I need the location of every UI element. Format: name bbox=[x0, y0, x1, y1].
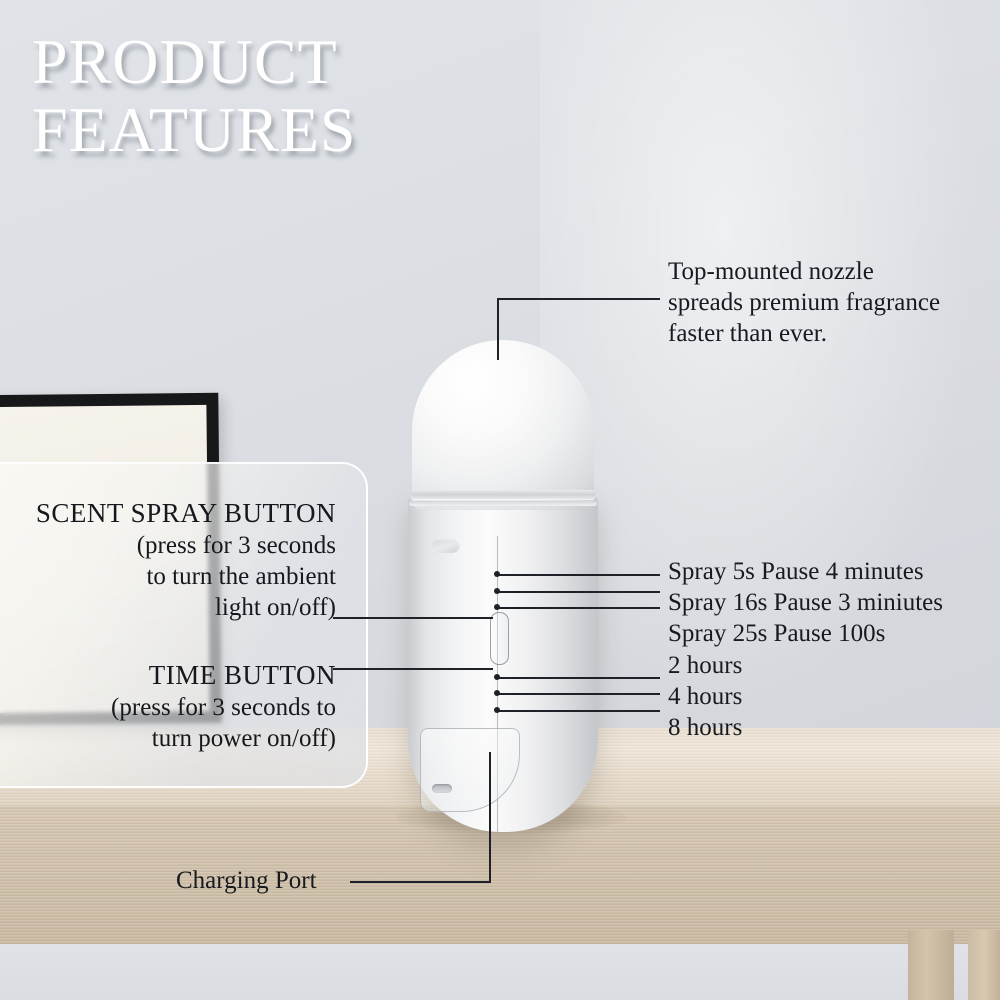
leader-line-spray-2 bbox=[497, 591, 660, 593]
aroma-diffuser-device bbox=[408, 340, 598, 832]
device-button-panel bbox=[490, 612, 509, 665]
annotation-spray-mode-3: Spray 25s Pause 100s bbox=[668, 618, 943, 649]
annotation-charging-port: Charging Port bbox=[176, 866, 317, 896]
annotation-spray-mode-1: Spray 5s Pause 4 minutes bbox=[668, 556, 943, 587]
floor-background bbox=[0, 944, 1000, 1000]
callout-scent-spray-sub-3: light on/off) bbox=[8, 592, 336, 623]
annotation-timer-modes: 2 hours 4 hours 8 hours bbox=[668, 650, 742, 743]
leader-line-spray-3 bbox=[497, 607, 660, 609]
device-dome-cap bbox=[412, 340, 594, 510]
callout-time-button-sub-1: (press for 3 seconds to bbox=[8, 692, 336, 723]
page-title-line-1: PRODUCT bbox=[32, 28, 357, 96]
annotation-timer-mode-2: 4 hours bbox=[668, 681, 742, 712]
page-title: PRODUCT FEATURES bbox=[32, 28, 357, 164]
infographic-canvas: PRODUCT FEATURES Top-mounted nozzle spre… bbox=[0, 0, 1000, 1000]
annotation-nozzle-line-1: Top-mounted nozzle bbox=[668, 256, 940, 287]
annotation-spray-modes: Spray 5s Pause 4 minutes Spray 16s Pause… bbox=[668, 556, 943, 649]
device-indicator-light bbox=[430, 538, 460, 553]
leader-line-charging-port-vertical bbox=[489, 752, 491, 883]
annotation-charging-port-label: Charging Port bbox=[176, 866, 317, 896]
callout-scent-spray: SCENT SPRAY BUTTON (press for 3 seconds … bbox=[8, 496, 336, 623]
callout-scent-spray-title: SCENT SPRAY BUTTON bbox=[8, 496, 336, 530]
leader-line-spray-1 bbox=[497, 574, 660, 576]
charging-port-slot bbox=[432, 784, 452, 793]
leader-line-scent-spray bbox=[333, 617, 493, 619]
annotation-nozzle: Top-mounted nozzle spreads premium fragr… bbox=[668, 256, 940, 349]
callout-time-button-title: TIME BUTTON bbox=[8, 658, 336, 692]
callout-time-button-sub-2: turn power on/off) bbox=[8, 723, 336, 754]
annotation-timer-mode-3: 8 hours bbox=[668, 712, 742, 743]
leader-line-time-button bbox=[333, 668, 493, 670]
table-leg bbox=[908, 930, 954, 1000]
device-seam-ring-lower bbox=[409, 501, 597, 506]
leader-line-nozzle-vertical bbox=[497, 298, 499, 360]
annotation-nozzle-line-3: faster than ever. bbox=[668, 318, 940, 349]
callout-scent-spray-sub-1: (press for 3 seconds bbox=[8, 530, 336, 561]
device-seam-ring bbox=[410, 490, 596, 499]
callout-scent-spray-sub-2: to turn the ambient bbox=[8, 561, 336, 592]
leader-line-timer-1 bbox=[497, 677, 660, 679]
table-leg-secondary bbox=[968, 930, 1000, 1000]
callout-time-button: TIME BUTTON (press for 3 seconds to turn… bbox=[8, 658, 336, 754]
leader-line-timer-3 bbox=[497, 710, 660, 712]
leader-line-nozzle-horizontal bbox=[497, 298, 660, 300]
annotation-timer-mode-1: 2 hours bbox=[668, 650, 742, 681]
annotation-spray-mode-2: Spray 16s Pause 3 miniutes bbox=[668, 587, 943, 618]
leader-line-timer-2 bbox=[497, 693, 660, 695]
leader-line-charging-port-horizontal bbox=[350, 881, 490, 883]
annotation-nozzle-line-2: spreads premium fragrance bbox=[668, 287, 940, 318]
page-title-line-2: FEATURES bbox=[32, 96, 357, 164]
